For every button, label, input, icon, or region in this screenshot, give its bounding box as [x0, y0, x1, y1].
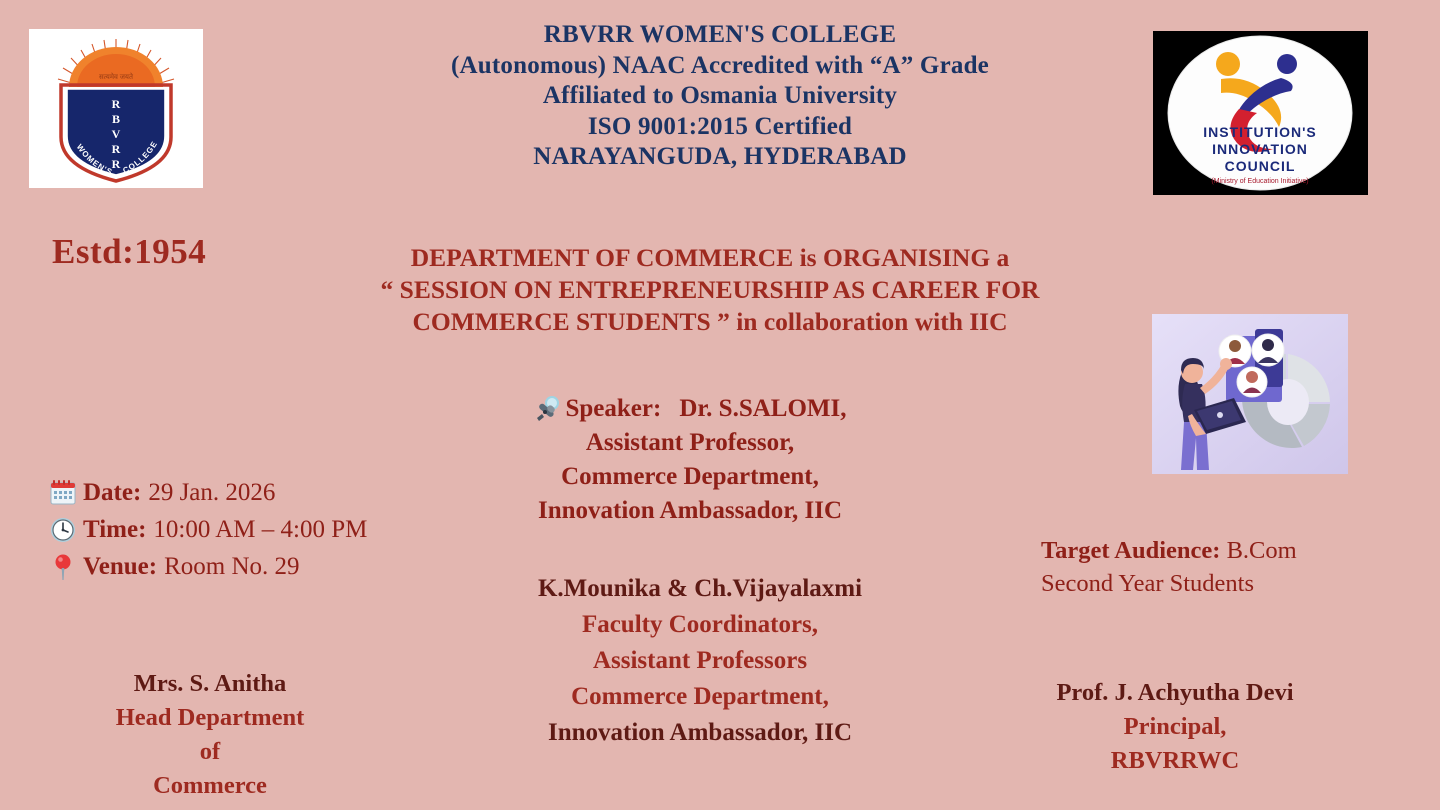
speaker-line-2: Assistant Professor,: [430, 426, 950, 460]
svg-text:R: R: [112, 142, 121, 156]
svg-text:INSTITUTION'S: INSTITUTION'S: [1203, 124, 1317, 140]
detail-row-date: Date: 29 Jan. 2026: [48, 474, 367, 511]
speaker-line-4: Innovation Ambassador, IIC: [430, 494, 950, 528]
clock-icon: [48, 515, 78, 545]
event-title-line-1: DEPARTMENT OF COMMERCE is ORGANISING a: [180, 242, 1240, 274]
speaker-name: Dr. S.SALOMI,: [679, 392, 846, 426]
teamwork-presentation-illustration: [1152, 314, 1348, 474]
target-audience-line-2: Second Year Students: [1041, 570, 1254, 597]
svg-text:सत्यमेव जयते: सत्यमेव जयते: [99, 72, 134, 81]
principal-line-2: Principal,: [960, 710, 1390, 744]
college-header: RBVRR WOMEN'S COLLEGE (Autonomous) NAAC …: [300, 20, 1140, 173]
coordinator-line-1: K.Mounika & Ch.Vijayalaxmi: [450, 571, 950, 607]
svg-text:COUNCIL: COUNCIL: [1225, 158, 1296, 174]
detail-row-venue: Venue: Room No. 29: [48, 548, 367, 585]
faculty-coordinators-block: K.Mounika & Ch.Vijayalaxmi Faculty Coord…: [450, 571, 950, 751]
hod-line-1: Mrs. S. Anitha: [60, 667, 360, 701]
svg-text:B: B: [112, 112, 120, 126]
hod-line-4: Commerce: [60, 769, 360, 803]
hod-line-2: Head Department: [60, 701, 360, 735]
speaker-block: Speaker: Dr. S.SALOMI, Assistant Profess…: [430, 392, 950, 528]
principal-line-1: Prof. J. Achyutha Devi: [960, 676, 1390, 710]
detail-row-time: Time: 10:00 AM – 4:00 PM: [48, 511, 367, 548]
event-title-line-3: COMMERCE STUDENTS ” in collaboration wit…: [180, 306, 1240, 338]
coordinator-line-2: Faculty Coordinators,: [450, 607, 950, 643]
target-audience-label: Target Audience:: [1041, 537, 1220, 564]
event-poster: सत्यमेव जयते R B V R R WOMEN'S COLL: [0, 0, 1440, 810]
header-line-2: (Autonomous) NAAC Accredited with “A” Gr…: [300, 51, 1140, 82]
principal-line-3: RBVRRWC: [960, 744, 1390, 778]
date-value: 29 Jan. 2026: [148, 474, 275, 511]
header-line-1: RBVRR WOMEN'S COLLEGE: [300, 20, 1140, 51]
coordinator-line-3: Assistant Professors: [450, 643, 950, 679]
svg-text:(Ministry of Education Initiat: (Ministry of Education Initiative): [1211, 178, 1308, 185]
location-pin-icon: [48, 552, 78, 582]
header-line-4: ISO 9001:2015 Certified: [300, 112, 1140, 143]
principal-block: Prof. J. Achyutha Devi Principal, RBVRRW…: [960, 676, 1390, 778]
svg-text:R: R: [112, 97, 121, 111]
calendar-icon: [48, 478, 78, 508]
header-line-5: NARAYANGUDA, HYDERABAD: [300, 142, 1140, 173]
coordinator-line-4: Commerce Department,: [450, 679, 950, 715]
venue-label: Venue:: [83, 548, 157, 585]
date-label: Date:: [83, 474, 141, 511]
event-details: Date: 29 Jan. 2026 Time: 10:00 AM – 4:00…: [48, 474, 367, 585]
event-title: DEPARTMENT OF COMMERCE is ORGANISING a “…: [180, 242, 1240, 338]
svg-text:V: V: [112, 127, 121, 141]
institutions-innovation-council-logo: INSTITUTION'S INNOVATION COUNCIL (Minist…: [1153, 31, 1368, 195]
time-label: Time:: [83, 511, 146, 548]
target-audience: Target Audience: B.Com Second Year Stude…: [1041, 534, 1371, 600]
header-line-3: Affiliated to Osmania University: [300, 81, 1140, 112]
svg-text:INNOVATION: INNOVATION: [1212, 141, 1308, 157]
event-title-line-2: “ SESSION ON ENTREPRENEURSHIP AS CAREER …: [180, 274, 1240, 306]
time-value: 10:00 AM – 4:00 PM: [153, 511, 367, 548]
speaker-line-1: Speaker: Dr. S.SALOMI,: [430, 392, 950, 426]
target-audience-value: B.Com: [1220, 537, 1296, 564]
head-of-department-block: Mrs. S. Anitha Head Department of Commer…: [60, 667, 360, 803]
college-crest-logo: सत्यमेव जयते R B V R R WOMEN'S COLL: [29, 29, 203, 188]
speaker-label: Speaker:: [566, 392, 662, 426]
hod-line-3: of: [60, 735, 360, 769]
speaker-line-3: Commerce Department,: [430, 460, 950, 494]
venue-value: Room No. 29: [164, 548, 299, 585]
coordinator-line-5: Innovation Ambassador, IIC: [450, 715, 950, 751]
microphone-icon: [534, 395, 560, 423]
